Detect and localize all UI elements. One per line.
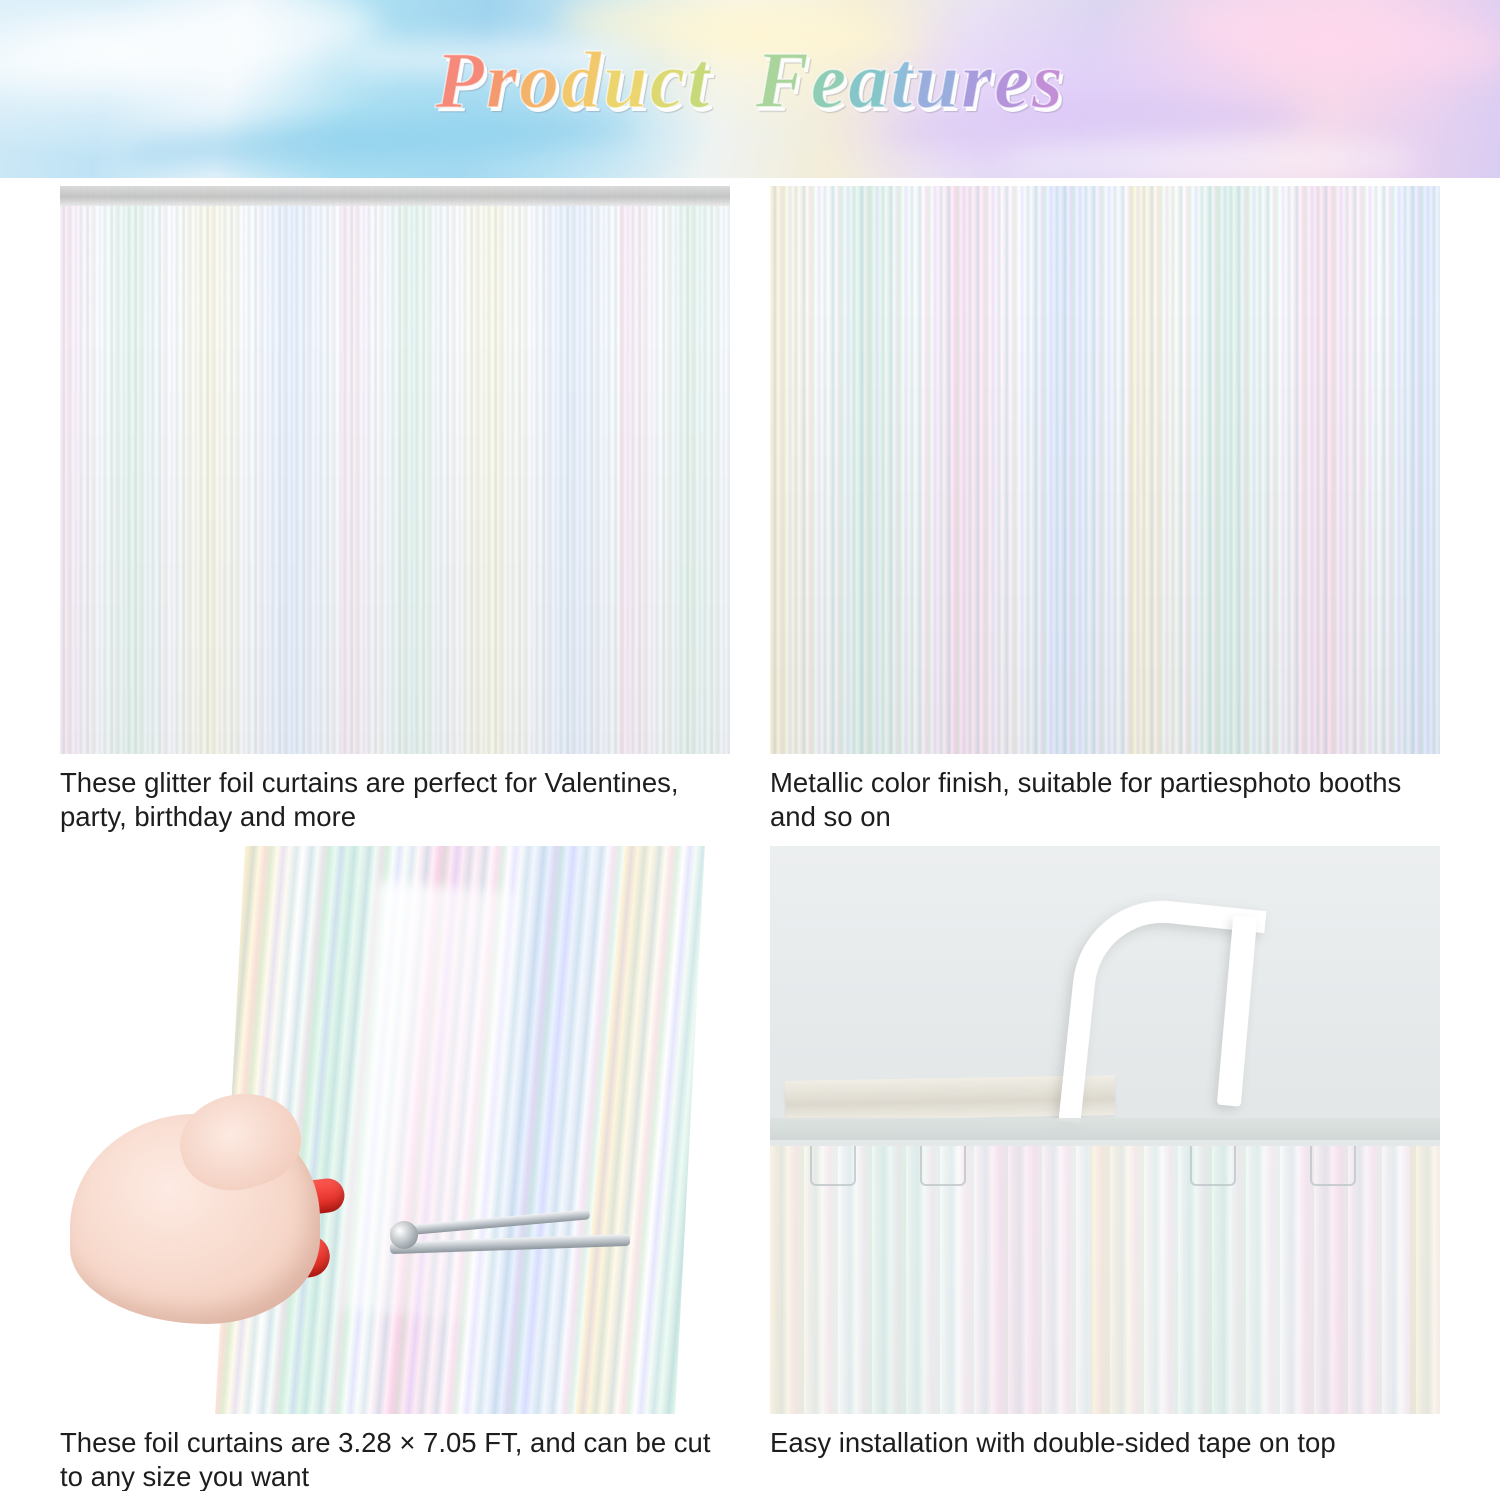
- feature-cell-uses: These glitter foil curtains are perfect …: [60, 186, 730, 826]
- curtain-notch: [1310, 1146, 1356, 1186]
- title-letter: r: [961, 36, 994, 127]
- title-letter: c: [650, 36, 688, 127]
- title-letter: e: [994, 36, 1032, 127]
- title-letter: d: [561, 36, 603, 127]
- title-letter: t: [687, 36, 711, 127]
- foil-iridescent-overlay: [770, 1146, 1440, 1414]
- feature-caption-finish: Metallic color finish, suitable for part…: [770, 766, 1440, 833]
- feature-caption-size: These foil curtains are 3.28 × 7.05 FT, …: [60, 1426, 730, 1491]
- header-wisp: [1000, 140, 1420, 178]
- title-letter: e: [811, 36, 849, 127]
- curtain-top-edge: [770, 1118, 1440, 1140]
- curtain-notch: [1190, 1146, 1236, 1186]
- feature-cell-size: These foil curtains are 3.28 × 7.05 FT, …: [60, 846, 730, 1486]
- curtain-notch: [920, 1146, 966, 1186]
- foil-iridescent-overlay: [60, 186, 730, 754]
- page-title: Product Features: [0, 36, 1500, 127]
- feature-cell-finish: Metallic color finish, suitable for part…: [770, 186, 1440, 826]
- curtain-header-strip: [60, 186, 730, 206]
- title-letter: o: [519, 36, 561, 127]
- feature-cell-installation: Easy installation with double-sided tape…: [770, 846, 1440, 1486]
- feature-image-size: [60, 846, 730, 1414]
- title-letter: u: [915, 36, 962, 127]
- feature-caption-installation: Easy installation with double-sided tape…: [770, 1426, 1440, 1460]
- title-letter: u: [603, 36, 650, 127]
- feature-caption-uses: These glitter foil curtains are perfect …: [60, 766, 730, 833]
- feature-image-installation: [770, 846, 1440, 1414]
- title-letter: r: [486, 36, 519, 127]
- foil-iridescent-overlay: [770, 186, 1440, 754]
- curtain-notch: [810, 1146, 856, 1186]
- title-letter: s: [1032, 36, 1065, 127]
- scissors-pivot-icon: [390, 1221, 418, 1249]
- feature-grid: These glitter foil curtains are perfect …: [0, 178, 1500, 1491]
- product-features-page: Product Features These glitter foil curt…: [0, 0, 1500, 1491]
- title-letter: t: [890, 36, 914, 127]
- title-letter: [711, 36, 755, 127]
- title-letter: P: [435, 36, 486, 127]
- feature-image-finish: [770, 186, 1440, 754]
- title-letter: a: [848, 36, 890, 127]
- header-banner: Product Features: [0, 0, 1500, 178]
- title-letter: F: [755, 36, 810, 127]
- feature-image-uses: [60, 186, 730, 754]
